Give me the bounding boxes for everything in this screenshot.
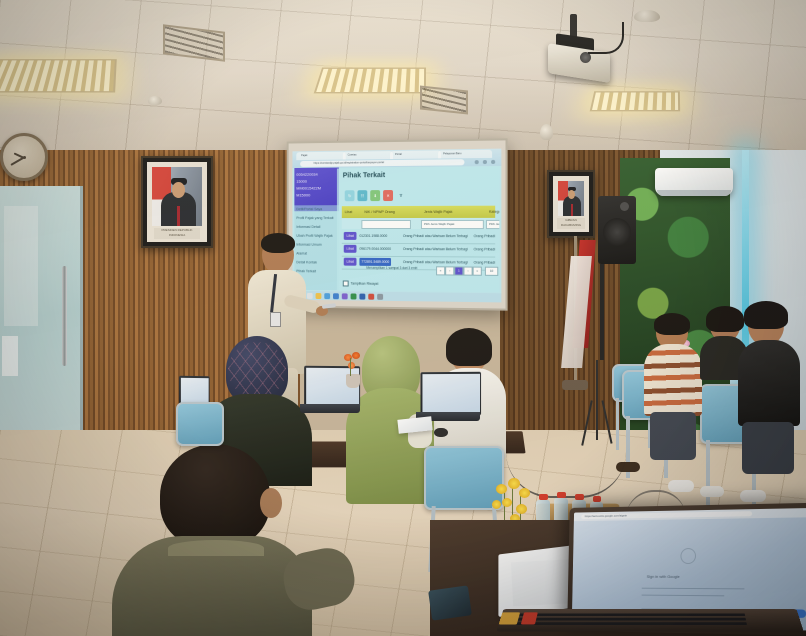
smoke-detector-1 bbox=[148, 96, 162, 105]
vice-president-portrait: GIBRAN RAKABUMING RAKA bbox=[547, 170, 595, 238]
chat-icon[interactable] bbox=[342, 293, 348, 299]
app-id-line-3: M15000 bbox=[296, 191, 337, 198]
hijab-pattern bbox=[228, 342, 286, 398]
row-kategori: Orang Pribadi bbox=[474, 258, 495, 266]
os-taskbar bbox=[292, 291, 501, 303]
row-kategori: Orang Pribadi bbox=[474, 245, 495, 253]
clock-center bbox=[23, 156, 26, 159]
speaker-stand bbox=[600, 264, 604, 360]
sidebar-item-2[interactable]: Informasi Detail bbox=[296, 225, 337, 230]
table-filter-row: Pilih Jenis Wajib Pajak Pilih Jenis bbox=[342, 218, 495, 229]
black-right-body bbox=[738, 340, 800, 426]
participant-black-right bbox=[738, 306, 800, 486]
black-right-legs bbox=[742, 422, 794, 474]
ceiling-light-panel-3 bbox=[590, 91, 681, 111]
word-icon[interactable] bbox=[359, 293, 365, 299]
foreground-head bbox=[160, 444, 270, 548]
browser-extensions-icon[interactable] bbox=[475, 160, 479, 164]
laptop-left-base bbox=[300, 404, 360, 413]
row-npwp: 096179.0044.000000 bbox=[359, 245, 391, 253]
page-title: Pihak Terkait bbox=[343, 172, 385, 179]
striped-body bbox=[644, 344, 702, 416]
page-next[interactable]: › bbox=[463, 266, 472, 275]
smoke-detector-2 bbox=[540, 124, 553, 140]
foreground-browser-bar: https://accounts.google.com/signin bbox=[574, 508, 806, 521]
laptop-sticker bbox=[499, 612, 521, 624]
row-npwp: 012301.1988.0000 bbox=[359, 232, 387, 240]
page-prev[interactable]: ‹ bbox=[445, 266, 454, 275]
browser-icon[interactable] bbox=[324, 293, 330, 299]
projection-screen: Pajak Coretax Portal Pelaporan Baru http… bbox=[287, 138, 508, 310]
pagination-summary: Menampilkan 1 sampai 3 dari 3 entri bbox=[366, 266, 417, 270]
flag-base bbox=[562, 380, 588, 390]
president-portrait: PRESIDEN REPUBLIK INDONESIA bbox=[141, 156, 213, 248]
black-right-hair bbox=[744, 301, 788, 329]
browser-menu-icon[interactable] bbox=[491, 160, 495, 164]
projected-application: Pajak Coretax Portal Pelaporan Baru http… bbox=[292, 149, 501, 303]
door-handle[interactable] bbox=[62, 266, 67, 366]
meeting-room-photo: PRESIDEN REPUBLIK INDONESIA GIBRAN RAKAB… bbox=[0, 0, 806, 636]
portrait-caption-2: GIBRAN RAKABUMING RAKA bbox=[557, 218, 584, 229]
browser-tab-3[interactable]: Pelaporan Baru bbox=[438, 150, 492, 159]
laptop-mid-display bbox=[422, 373, 480, 413]
per-page-select[interactable]: 10 bbox=[485, 267, 498, 276]
ceiling-air-vent-2 bbox=[420, 85, 468, 114]
filter-kategori-select[interactable]: Pilih Jenis bbox=[486, 220, 499, 229]
wall-clock bbox=[0, 133, 48, 181]
smoke-detector-3 bbox=[634, 10, 660, 22]
row-jenis: Orang Pribadi atau Warisan Belum Terbagi bbox=[403, 232, 468, 240]
chair-right-1-leg-1 bbox=[616, 398, 619, 450]
ceiling-light-panel-1 bbox=[0, 59, 117, 92]
door-reflection bbox=[4, 206, 38, 326]
shoe-white-3 bbox=[740, 490, 766, 502]
app-content: Pihak Terkait ↻ ☷ ⬇ ✕ ∇ Lihat NIK / NPWP… bbox=[337, 167, 499, 292]
browser-address-bar[interactable]: https://coretaxdjp.pajak.go.id/registrat… bbox=[300, 159, 464, 167]
column-header-2: Jenis Wajib Pajak bbox=[421, 206, 487, 218]
toolbar-close-icon[interactable]: ✕ bbox=[383, 190, 393, 201]
foreground-collar bbox=[168, 540, 264, 556]
speaker-cone bbox=[603, 218, 631, 246]
toolbar-filter-icon[interactable]: ∇ bbox=[396, 190, 406, 201]
foreground-laptop-keyboard[interactable] bbox=[496, 609, 803, 631]
column-header-0: Lihat bbox=[342, 206, 363, 218]
checkbox-label: Tampilkan Riwayat bbox=[351, 281, 379, 285]
toolbar-refresh-icon[interactable]: ↻ bbox=[345, 190, 355, 201]
striped-legs bbox=[650, 412, 696, 460]
column-header-1: NIK / NPWP Orang bbox=[361, 206, 422, 218]
row-view-button[interactable]: Lihat bbox=[344, 245, 357, 253]
page-1[interactable]: 1 bbox=[454, 266, 463, 275]
presenter-id-badge bbox=[270, 312, 281, 327]
shoe-white-1 bbox=[668, 480, 694, 492]
foreground-ear bbox=[260, 488, 282, 518]
sidebar-item-1[interactable]: Profil Pajak yang Terkait bbox=[296, 216, 337, 221]
foreground-address-bar[interactable]: https://accounts.google.com/signin bbox=[581, 511, 752, 519]
striped-hair bbox=[654, 313, 690, 335]
filter-jenis-select[interactable]: Pilih Jenis Wajib Pajak bbox=[421, 220, 484, 229]
small-pot bbox=[346, 374, 360, 388]
browser-profile-icon[interactable] bbox=[483, 160, 487, 164]
mouse[interactable] bbox=[434, 428, 448, 437]
portrait-caption: PRESIDEN REPUBLIK INDONESIA bbox=[154, 228, 200, 239]
chair-right-3-leg-1 bbox=[706, 440, 710, 508]
browser-tab-1[interactable]: Coretax bbox=[343, 151, 393, 160]
row-kategori: Orang Pribadi bbox=[474, 232, 495, 240]
browser-chrome: Pajak Coretax Portal Pelaporan Baru http… bbox=[292, 149, 501, 168]
filter-npwp-input[interactable] bbox=[361, 220, 411, 229]
door-notice-paper bbox=[2, 336, 18, 376]
speaker-tweeter bbox=[620, 202, 629, 211]
page-last[interactable]: » bbox=[473, 267, 482, 276]
browser-tab-2[interactable]: Portal bbox=[390, 150, 441, 159]
row-npwp-selected: 772891.5489.0000 bbox=[359, 258, 391, 266]
google-logo-icon bbox=[680, 548, 696, 564]
settings-icon[interactable] bbox=[377, 293, 383, 299]
pdf-icon[interactable] bbox=[368, 293, 374, 299]
table-pagination: Menampilkan 1 sampai 3 dari 3 entri « ‹ … bbox=[366, 266, 489, 276]
participant-hair-white bbox=[446, 328, 492, 366]
foreground-heading: Sign in with Google bbox=[647, 574, 680, 579]
participant-striped bbox=[644, 316, 702, 442]
browser-tab-0[interactable]: Pajak bbox=[296, 152, 345, 160]
page-first[interactable]: « bbox=[436, 266, 445, 275]
phone-on-desk[interactable] bbox=[428, 585, 472, 620]
wall-speaker bbox=[598, 196, 636, 264]
shoe-white-2 bbox=[700, 486, 724, 497]
files-icon[interactable] bbox=[316, 293, 322, 299]
camera-tripod bbox=[596, 360, 598, 440]
toolbar-grid-icon[interactable]: ☷ bbox=[357, 190, 367, 201]
sidebar-item-0[interactable]: Detil/Portal Saya bbox=[296, 207, 337, 212]
flower-vase-left bbox=[338, 352, 366, 388]
show-history-checkbox-row[interactable]: Tampilkan Riwayat bbox=[343, 280, 379, 286]
row-view-button[interactable]: Lihat bbox=[344, 232, 357, 240]
presenter-hair bbox=[261, 233, 295, 253]
laptop-mid bbox=[421, 372, 482, 415]
laptop-sticker-2 bbox=[521, 612, 538, 624]
chair-left-front[interactable] bbox=[176, 402, 224, 446]
excel-icon[interactable] bbox=[351, 293, 357, 299]
participant-foreground bbox=[112, 444, 312, 636]
checkbox-icon[interactable] bbox=[343, 280, 349, 286]
table-header-row: Lihat NIK / NPWP Orang Jenis Wajib Pajak… bbox=[342, 206, 495, 218]
ac-vent-louver bbox=[657, 190, 731, 196]
column-header-3: Kategori Pihak bbox=[486, 206, 499, 218]
row-view-button[interactable]: Lihat bbox=[344, 258, 357, 266]
toolbar-download-icon[interactable]: ⬇ bbox=[370, 190, 380, 201]
ceiling-light-panel-2 bbox=[314, 68, 426, 94]
mail-icon[interactable] bbox=[333, 293, 339, 299]
row-jenis: Orang Pribadi atau Warisan Belum Terbagi bbox=[403, 245, 468, 253]
